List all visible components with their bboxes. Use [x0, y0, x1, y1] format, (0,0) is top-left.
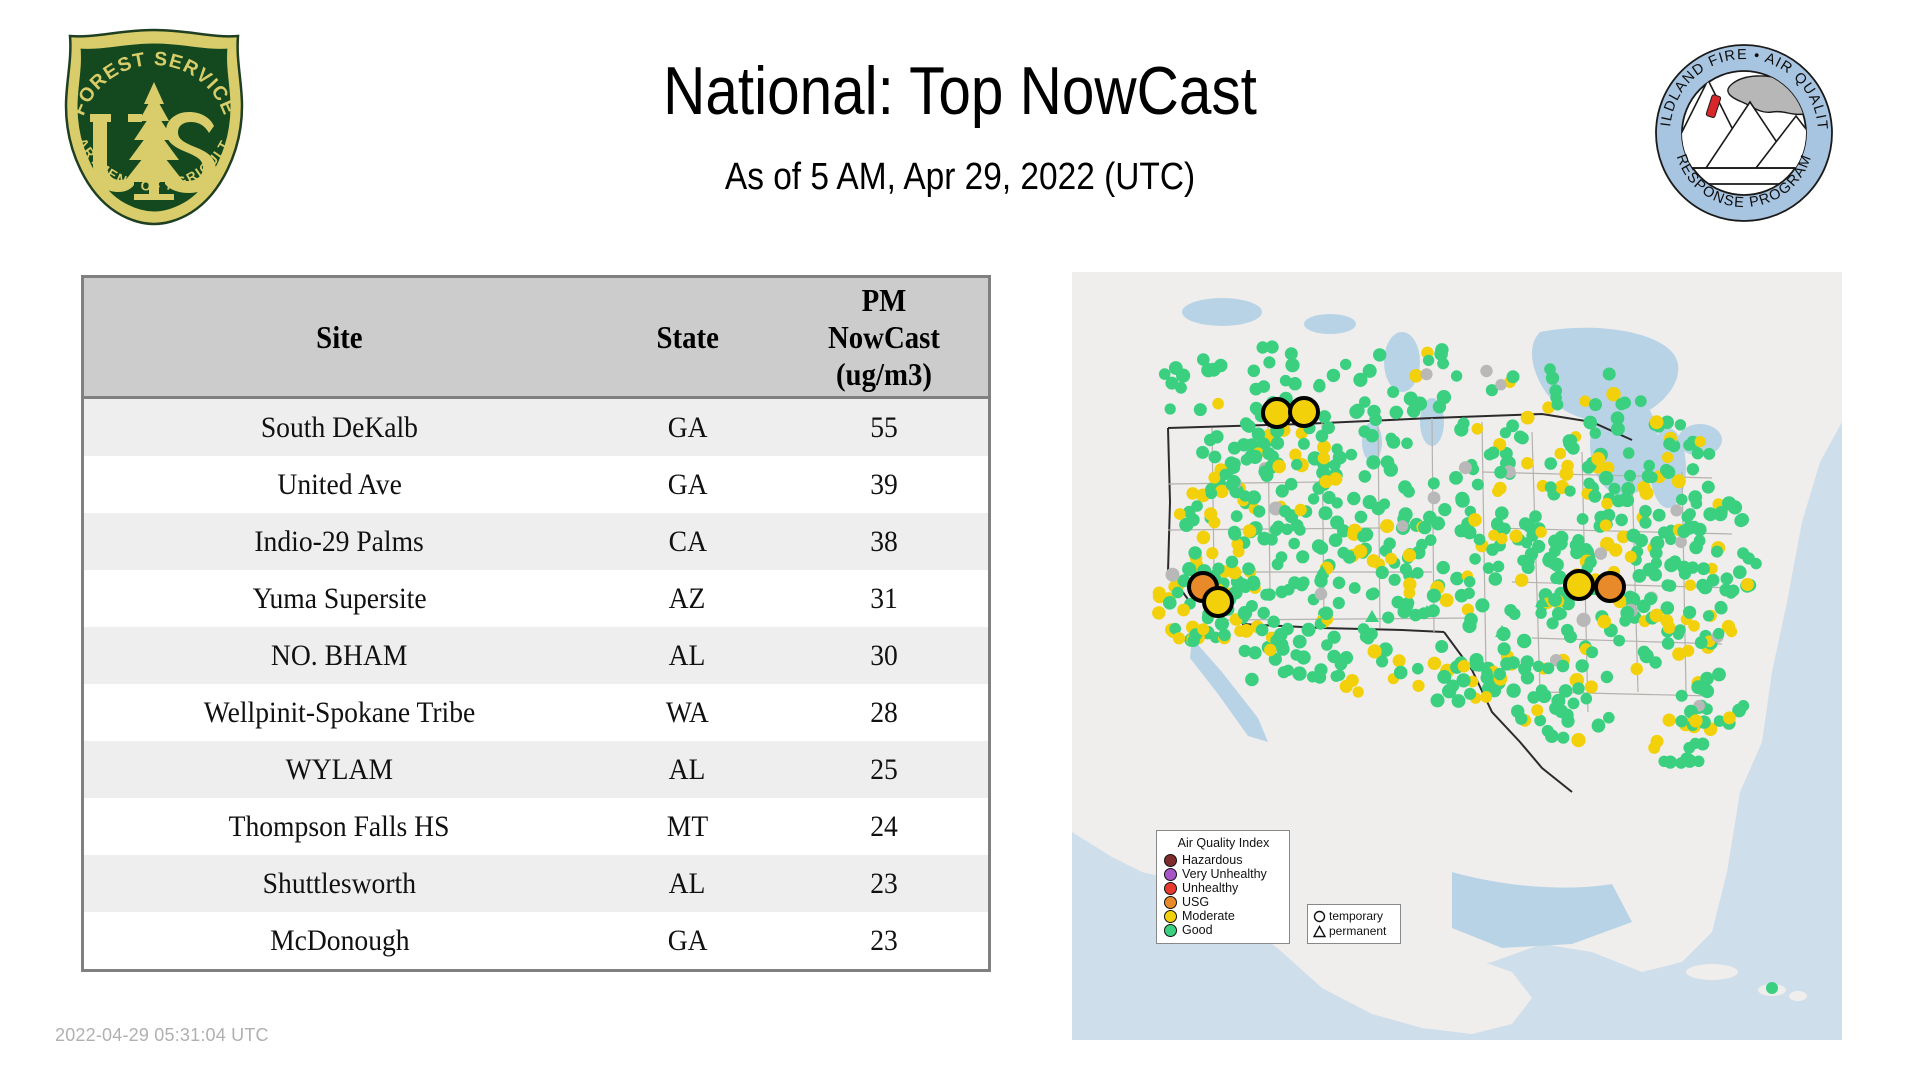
monitor-dot [1327, 369, 1340, 382]
monitor-dot [1263, 588, 1275, 600]
aqi-legend-item: Good [1164, 923, 1283, 937]
monitor-dot [1595, 547, 1608, 560]
pm-nowcast-cell-text: 39 [870, 468, 898, 502]
monitor-dot [1469, 553, 1481, 565]
monitor-dot [1643, 460, 1655, 472]
monitor-dot [1553, 536, 1567, 550]
state-cell-text: CA [668, 525, 706, 559]
monitor-dot [1644, 592, 1657, 605]
monitor-dot [1428, 657, 1441, 670]
pm-nowcast-cell-text: 38 [870, 525, 898, 559]
aqi-legend-color-dot-icon [1164, 868, 1177, 881]
monitor-dot [1546, 371, 1559, 384]
monitor-dot [1570, 546, 1583, 559]
monitor-dot [1703, 448, 1715, 460]
monitor-dot [1631, 663, 1643, 675]
monitor-dot [1556, 608, 1567, 619]
monitor-dot [1458, 660, 1471, 673]
monitor-dot [1351, 404, 1365, 418]
monitor-dot [1663, 621, 1676, 634]
table-row: Yuma SupersiteAZ31 [84, 570, 988, 627]
monitor-dot [1660, 464, 1672, 476]
monitor-dot [1535, 608, 1546, 619]
monitor-dot [1196, 446, 1209, 459]
monitor-dot [1639, 505, 1651, 517]
monitor-dot [1285, 358, 1299, 372]
column-header-site: Site [84, 278, 595, 398]
top-nowcast-table: Site State PM NowCast (ug/m3) South DeKa… [81, 275, 991, 972]
monitor-dot [1675, 624, 1686, 635]
monitor-dot [1535, 526, 1546, 537]
monitor-dot [1741, 578, 1754, 591]
pm-nowcast-cell-text: 31 [870, 582, 898, 616]
monitor-dot [1609, 543, 1622, 556]
state-cell: AL [595, 627, 780, 684]
monitor-dot [1397, 520, 1409, 532]
monitor-dot [1506, 419, 1519, 432]
monitor-dot [1521, 655, 1534, 668]
monitor-dot [1329, 533, 1343, 547]
monitor-dot [1601, 671, 1613, 683]
monitor-dot [1294, 524, 1305, 535]
monitor-dot [1506, 683, 1520, 697]
temporary-circle-icon [1313, 910, 1326, 923]
monitor-dot [1312, 539, 1326, 553]
table-row: United AveGA39 [84, 456, 988, 513]
aqi-monitor-map[interactable]: Wellpinit-Spokane TribeThompson Falls HS… [1072, 272, 1842, 1040]
monitor-dot [1243, 524, 1257, 538]
monitor-dot [1522, 561, 1535, 574]
aqi-legend-item: Hazardous [1164, 853, 1283, 867]
monitor-dot [1278, 666, 1290, 678]
highlighted-site-marker[interactable]: Thompson Falls HS [1290, 398, 1318, 426]
monitor-dot [1738, 700, 1750, 712]
monitor-dot [1733, 565, 1747, 579]
aqi-legend-item: Moderate [1164, 909, 1283, 923]
monitor-dot [1291, 459, 1302, 470]
monitor-dot [1494, 466, 1507, 479]
monitor-dot [1413, 397, 1427, 411]
monitor-dot [1696, 579, 1709, 592]
monitor-dot [1384, 537, 1396, 549]
monitor-dot [1500, 657, 1513, 670]
table-row: Wellpinit-Spokane TribeWA28 [84, 684, 988, 741]
monitor-dot [1173, 632, 1185, 644]
monitor-dot [1697, 562, 1710, 575]
monitor-dot [1545, 729, 1559, 743]
state-cell-text: GA [667, 468, 707, 502]
monitor-dot [1682, 645, 1694, 657]
monitor-dot [1314, 379, 1325, 390]
aqi-legend-color-dot-icon [1164, 924, 1177, 937]
monitor-dot [1320, 607, 1334, 621]
monitor-dot [1358, 623, 1370, 635]
pm-nowcast-cell: 25 [780, 741, 988, 798]
state-cell-text: GA [667, 411, 707, 445]
monitor-dot [1700, 672, 1714, 686]
wildland-fire-air-quality-seal-icon: WILDLAND FIRE • AIR QUALITY RESPONSE PRO… [1648, 40, 1840, 226]
aqi-legend-item-label: Unhealthy [1182, 882, 1238, 895]
column-header-state: State [595, 278, 780, 398]
monitor-dot [1703, 610, 1714, 621]
title-block: National: Top NowCast As of 5 AM, Apr 29… [300, 52, 1620, 200]
monitor-dot [1340, 359, 1351, 370]
table-row: McDonoughGA23 [84, 912, 988, 969]
monitor-dot [1194, 403, 1207, 416]
monitor-dot [1458, 417, 1470, 429]
monitor-dot [1152, 606, 1165, 619]
aqi-legend-item-label: Moderate [1182, 910, 1235, 923]
monitor-dot [1212, 563, 1224, 575]
monitor-dot [1663, 438, 1676, 451]
site-cell-text: WYLAM [286, 753, 393, 787]
pm-nowcast-cell: 23 [780, 912, 988, 969]
monitor-dot [1292, 666, 1306, 680]
monitor-dot [1509, 608, 1521, 620]
monitor-dot [1437, 670, 1451, 684]
state-cell: AL [595, 855, 780, 912]
monitor-dot [1437, 561, 1450, 574]
monitor-dot [1516, 432, 1528, 444]
monitor-dot [1677, 561, 1691, 575]
monitor-dot [1243, 420, 1256, 433]
monitor-dot [1507, 370, 1520, 383]
monitor-dot [1534, 715, 1546, 727]
aqi-legend-item: Unhealthy [1164, 881, 1283, 895]
monitor-dot [1437, 358, 1449, 370]
monitor-dot [1257, 341, 1269, 353]
monitor-dot [1197, 353, 1210, 366]
monitor-dot [1472, 423, 1484, 435]
aqi-legend-title: Air Quality Index [1164, 836, 1283, 850]
monitor-dot [1450, 572, 1464, 586]
monitor-dot [1548, 593, 1562, 607]
pm-nowcast-cell: 55 [780, 398, 988, 457]
monitor-dot [1676, 690, 1688, 702]
monitor-dot [1515, 574, 1528, 587]
monitor-dot [1313, 671, 1326, 684]
monitor-dot [1464, 688, 1476, 700]
monitor-dot [1597, 615, 1611, 629]
monitor-dot [1576, 659, 1589, 672]
monitor-dot [1451, 370, 1462, 381]
monitor-dot [1695, 636, 1708, 649]
state-cell-text: MT [667, 810, 708, 844]
column-header-pm-line2: NowCast [790, 319, 977, 356]
monitor-dot [1449, 471, 1463, 485]
monitor-dot [1483, 562, 1495, 574]
monitor-dot [1302, 623, 1316, 637]
pm-nowcast-cell-text: 28 [870, 696, 898, 730]
pm-nowcast-cell: 30 [780, 627, 988, 684]
monitor-dot [1163, 596, 1177, 610]
monitor-dot [1649, 568, 1662, 581]
monitor-dot [1634, 534, 1648, 548]
monitor-dot [1584, 478, 1595, 489]
monitor-dot [1750, 558, 1761, 569]
column-header-state-label: State [604, 319, 771, 356]
monitor-dot [1220, 469, 1231, 480]
monitor-dot [1495, 379, 1506, 390]
monitor-dot [1676, 494, 1688, 506]
monitor-dot [1353, 373, 1367, 387]
monitor-dot [1298, 438, 1310, 450]
monitor-dot [1296, 579, 1309, 592]
monitor-dot [1233, 546, 1245, 558]
monitor-dot [1557, 660, 1570, 673]
pm-nowcast-cell-text: 25 [870, 753, 898, 787]
monitor-dot [1392, 596, 1405, 609]
site-cell-text: NO. BHAM [271, 639, 407, 673]
monitor-dot [1412, 663, 1424, 675]
aqi-legend-item-label: USG [1182, 896, 1209, 909]
monitor-dot [1591, 452, 1605, 466]
monitor-dot [1354, 544, 1368, 558]
pm-nowcast-cell: 38 [780, 513, 988, 570]
monitor-dot [1229, 458, 1241, 470]
highlighted-site-marker[interactable]: Yuma Supersite [1204, 588, 1232, 616]
monitor-dot [1258, 380, 1271, 393]
monitor-dot [1635, 395, 1647, 407]
monitor-dot [1431, 516, 1445, 530]
monitor-dot [1581, 693, 1593, 705]
monitor-dot [1256, 624, 1269, 637]
monitor-dot [1470, 653, 1484, 667]
monitor-dot [1688, 620, 1700, 632]
monitor-dot [1384, 462, 1398, 476]
monitor-dot [1609, 483, 1621, 495]
monitor-dot [1387, 386, 1399, 398]
monitor-dot [1186, 487, 1199, 500]
monitor-dot [1264, 644, 1276, 656]
monitor-dot [1294, 504, 1306, 516]
pm-nowcast-cell: 28 [780, 684, 988, 741]
site-cell: McDonough [84, 912, 595, 969]
monitor-dot [1456, 673, 1470, 687]
monitor-dot [1358, 425, 1370, 437]
monitor-dot [1366, 455, 1380, 469]
monitor-dot [1228, 528, 1241, 541]
monitor-dot [1496, 533, 1507, 544]
monitor-dot [1545, 481, 1557, 493]
pm-nowcast-cell-text: 55 [870, 411, 898, 445]
state-cell-text: AZ [669, 582, 706, 616]
monitor-dot [1353, 686, 1364, 697]
site-cell-text: Yuma Supersite [252, 582, 426, 616]
generated-timestamp: 2022-04-29 05:31:04 UTC [55, 1025, 269, 1046]
monitor-dot [1279, 505, 1291, 517]
monitor-dot [1368, 644, 1382, 658]
monitor-dot [1276, 586, 1289, 599]
monitor-dot [1177, 604, 1190, 617]
monitor-dot [1369, 413, 1382, 426]
monitor-dot [1685, 580, 1696, 591]
monitor-dot [1510, 530, 1523, 543]
monitor-dot [1611, 411, 1625, 425]
monitor-dot [1555, 448, 1567, 460]
monitor-dot [1559, 684, 1573, 698]
monitor-dot [1349, 582, 1361, 594]
monitor-dot [1435, 640, 1448, 653]
pm-nowcast-cell-text: 23 [870, 867, 898, 901]
aqi-legend-item-label: Very Unhealthy [1182, 868, 1267, 881]
usda-forest-service-logo: FOREST SERVICE DEPARTMENT OF AGRICULTURE [52, 26, 256, 226]
site-cell: Indio-29 Palms [84, 513, 595, 570]
monitor-dot [1662, 452, 1673, 463]
monitor-dot [1440, 593, 1454, 607]
pm-nowcast-cell-text: 23 [870, 924, 898, 958]
monitor-dot [1455, 589, 1469, 603]
monitor-dot [1613, 635, 1625, 647]
monitor-dot [1262, 447, 1275, 460]
monitor-dot [1544, 457, 1557, 470]
site-cell-text: Shuttlesworth [263, 867, 416, 901]
monitor-dot [1403, 549, 1416, 562]
monitor-dot [1664, 558, 1678, 572]
monitor-dot [1586, 646, 1598, 658]
monitor-dot [1382, 612, 1394, 624]
monitor-dot [1712, 668, 1726, 682]
monitor-dot [1188, 546, 1201, 559]
monitor-dot [1563, 434, 1576, 447]
monitor-dot [1615, 514, 1628, 527]
monitor-dot [1577, 513, 1589, 525]
monitor-dot [1685, 508, 1696, 519]
monitor-dot [1346, 449, 1358, 461]
monitor-dot [1695, 436, 1706, 447]
aqi-legend-color-dot-icon [1164, 854, 1177, 867]
monitor-dot [1552, 399, 1564, 411]
state-cell: GA [595, 912, 780, 969]
monitor-dot [1215, 617, 1229, 631]
monitor-dot [1376, 566, 1389, 579]
site-cell: WYLAM [84, 741, 595, 798]
monitor-dot [1491, 517, 1503, 529]
monitor-dot [1373, 348, 1386, 361]
monitor-dot [1214, 359, 1227, 372]
monitor-dot [1285, 478, 1298, 491]
monitor-dot [1218, 629, 1230, 641]
monitor-dot [1521, 411, 1535, 425]
monitor-dot [1226, 556, 1238, 568]
monitor-dot [1689, 714, 1702, 727]
monitor-dot [1409, 609, 1422, 622]
monitor-dot [1494, 482, 1507, 495]
monitor-dot [1322, 421, 1335, 434]
aqi-legend-color-dot-icon [1164, 882, 1177, 895]
monitor-dot [1721, 572, 1734, 585]
monitor-dot [1603, 368, 1616, 381]
monitor-dot [1737, 547, 1749, 559]
monitor-dot [1572, 682, 1584, 694]
monitor-dot [1498, 642, 1511, 655]
column-header-pm-nowcast: PM NowCast (ug/m3) [780, 278, 988, 398]
monitor-dot [1722, 496, 1736, 510]
monitor-dot [1166, 568, 1180, 582]
site-type-legend: temporary permanent [1307, 904, 1401, 944]
monitor-dot [1421, 368, 1433, 380]
monitor-dot [1293, 635, 1307, 649]
monitor-dot [1333, 597, 1345, 609]
monitor-dot [1347, 492, 1360, 505]
aqi-legend-color-dot-icon [1164, 896, 1177, 909]
monitor-dot [1585, 680, 1598, 693]
monitor-dot [1484, 449, 1496, 461]
monitor-dot [1438, 503, 1451, 516]
monitor-dot [1271, 437, 1284, 450]
state-cell-text: WA [666, 696, 709, 730]
monitor-dot [1393, 654, 1406, 667]
monitor-dot [1331, 497, 1342, 508]
monitor-dot [1599, 471, 1613, 485]
site-cell: Wellpinit-Spokane Tribe [84, 684, 595, 741]
monitor-dot [1662, 579, 1674, 591]
monitor-dot [1464, 613, 1478, 627]
monitor-dot [1536, 684, 1548, 696]
monitor-dot [1651, 735, 1664, 748]
pm-nowcast-cell: 39 [780, 456, 988, 513]
monitor-dot [1665, 534, 1676, 545]
monitor-dot [1475, 598, 1489, 612]
table-row: South DeKalbGA55 [84, 398, 988, 457]
aqi-legend-item-label: Good [1182, 924, 1213, 937]
monitor-dot [1263, 356, 1275, 368]
monitor-dot [1425, 534, 1437, 546]
pm-nowcast-cell-text: 30 [870, 639, 898, 673]
monitor-dot [1459, 461, 1472, 474]
monitor-dot [1525, 547, 1538, 560]
monitor-dot [1571, 733, 1585, 747]
monitor-dot [1412, 567, 1424, 579]
highlighted-site-marker[interactable]: NO. BHAM [1565, 571, 1593, 599]
monitor-dot [1531, 704, 1543, 716]
monitor-dot [1554, 704, 1568, 718]
monitor-dot [1321, 639, 1333, 651]
site-type-temporary-label: temporary [1329, 910, 1383, 923]
monitor-dot [1723, 711, 1736, 724]
monitor-dot [1703, 507, 1717, 521]
monitor-dot [1639, 649, 1653, 663]
monitor-dot [1423, 355, 1434, 366]
monitor-dot [1418, 521, 1431, 534]
monitor-dot [1511, 705, 1524, 718]
monitor-dot [1197, 623, 1209, 635]
monitor-dot [1320, 475, 1333, 488]
site-type-temporary: temporary [1313, 909, 1395, 924]
monitor-dot [1639, 517, 1651, 529]
site-cell: Thompson Falls HS [84, 798, 595, 855]
monitor-dot [1589, 398, 1602, 411]
table-row: ShuttlesworthAL23 [84, 855, 988, 912]
monitor-dot [1297, 650, 1311, 664]
permanent-triangle-icon [1313, 925, 1326, 938]
monitor-dot [1689, 541, 1703, 555]
aqi-legend-item: Very Unhealthy [1164, 867, 1283, 881]
monitor-dot [1247, 490, 1261, 504]
monitor-dot [1427, 589, 1441, 603]
monitor-dot [1542, 553, 1556, 567]
table-row: NO. BHAMAL30 [84, 627, 988, 684]
monitor-dot [1285, 347, 1298, 360]
monitor-dot [1658, 756, 1669, 767]
monitor-dot [1646, 472, 1658, 484]
monitor-dot [1662, 637, 1675, 650]
highlighted-site-marker[interactable]: South DeKalb [1596, 573, 1624, 601]
highlighted-site-marker[interactable]: Wellpinit-Spokane Tribe [1263, 399, 1291, 427]
site-cell-text: McDonough [270, 924, 410, 958]
monitor-dot [1239, 645, 1251, 657]
monitor-dot [1296, 550, 1309, 563]
